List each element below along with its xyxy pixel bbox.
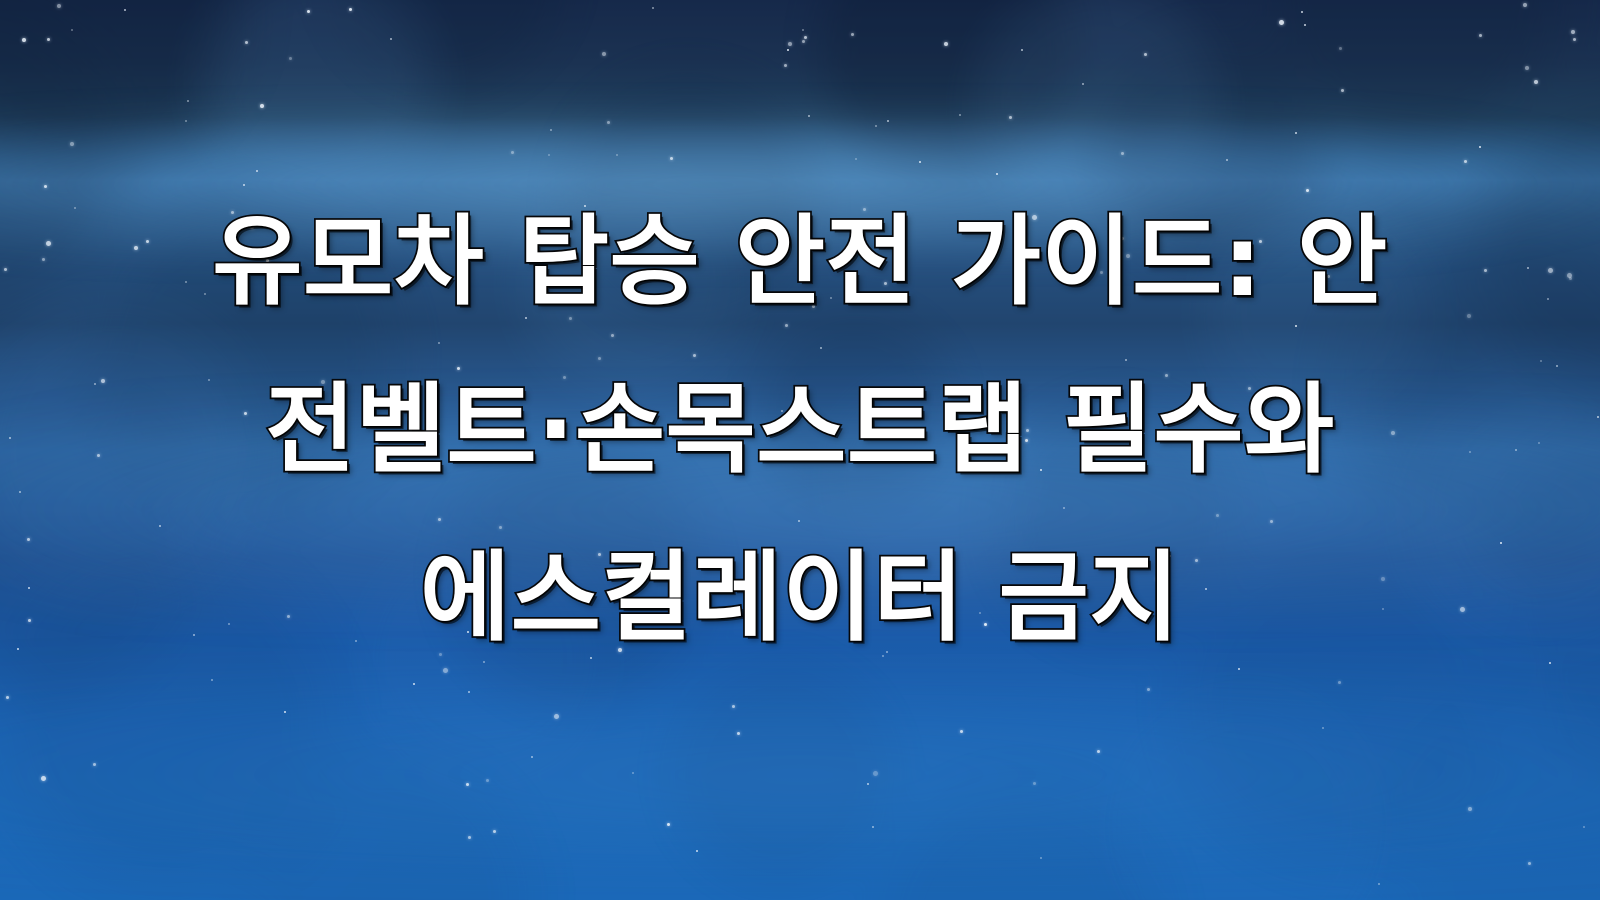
page-title: 유모차 탑승 안전 가이드: 안 전벨트·손목스트랩 필수와 에스컬레이터 금지 xyxy=(46,178,1554,682)
title-slide: 유모차 탑승 안전 가이드: 안 전벨트·손목스트랩 필수와 에스컬레이터 금지 xyxy=(0,0,1600,900)
title-block: 유모차 탑승 안전 가이드: 안 전벨트·손목스트랩 필수와 에스컬레이터 금지 xyxy=(0,178,1600,682)
